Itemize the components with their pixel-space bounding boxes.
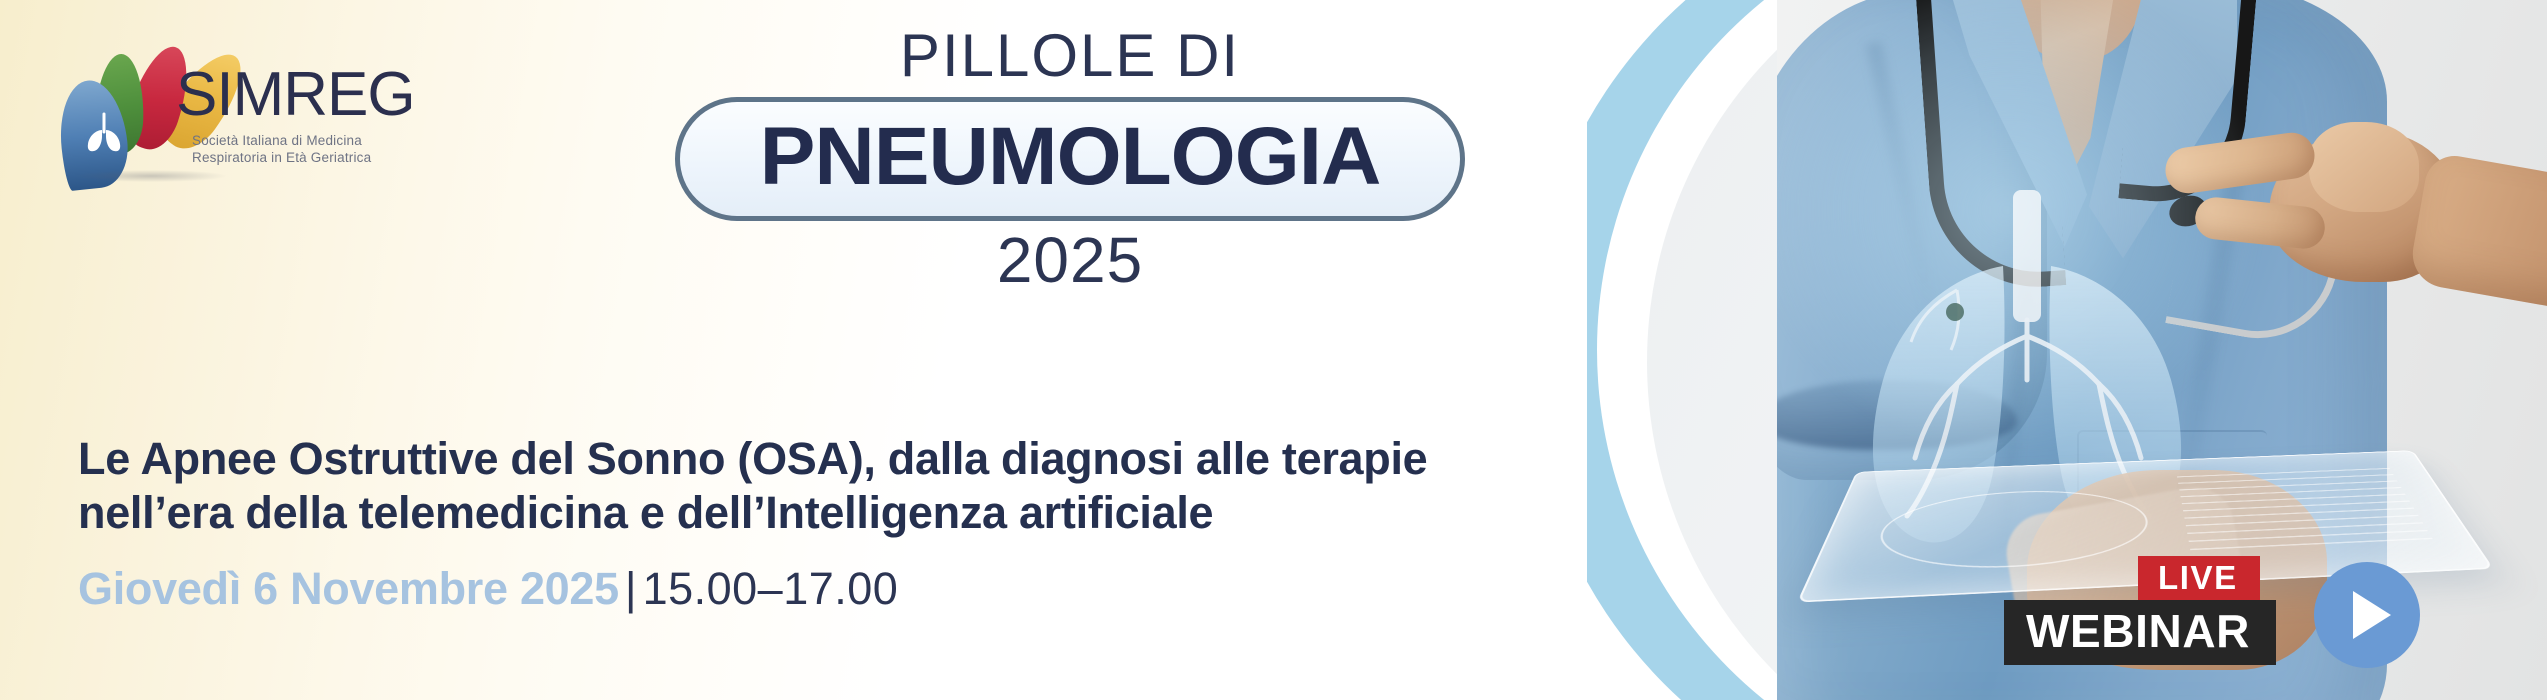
- session-subject-line2: nell’era della telemedicina e dell’Intel…: [78, 486, 1578, 540]
- session-details: Le Apnee Ostruttive del Sonno (OSA), dal…: [78, 432, 1578, 614]
- session-subject: Le Apnee Ostruttive del Sonno (OSA), dal…: [78, 432, 1578, 540]
- session-datetime: Giovedì 6 Novembre 2025|15.00–17.00: [78, 564, 1578, 614]
- lungs-icon: [84, 110, 124, 154]
- session-subject-line1: Le Apnee Ostruttive del Sonno (OSA), dal…: [78, 433, 1427, 484]
- hand-knuckles: [2309, 122, 2419, 212]
- datetime-separator: |: [619, 563, 643, 614]
- logo-drop-shadow: [76, 170, 226, 182]
- live-webinar-badge[interactable]: LIVE WEBINAR: [2004, 556, 2464, 672]
- live-label: LIVE: [2138, 556, 2260, 602]
- simreg-tagline-line1: Società Italiana di Medicina: [192, 133, 362, 148]
- session-date: Giovedì 6 Novembre 2025: [78, 563, 619, 614]
- title-highlight-text: PNEUMOLOGIA: [672, 116, 1468, 198]
- title-highlight-pill: PNEUMOLOGIA: [675, 97, 1465, 221]
- session-time: 15.00–17.00: [643, 563, 899, 614]
- forearm: [2407, 151, 2547, 324]
- pointing-hand: [2159, 96, 2489, 346]
- title-year: 2025: [660, 227, 1480, 294]
- simreg-logo[interactable]: SIMREG Società Italiana di Medicina Resp…: [62, 28, 392, 188]
- simreg-wordmark: SIMREG: [176, 64, 415, 126]
- title-block: PILLOLE DI PNEUMOLOGIA 2025: [660, 24, 1480, 294]
- title-kicker: PILLOLE DI: [660, 24, 1480, 87]
- tablet-data-readout: [2177, 468, 2433, 550]
- webinar-label: WEBINAR: [2004, 600, 2276, 665]
- play-button-icon[interactable]: [2314, 562, 2420, 668]
- simreg-tagline: Società Italiana di Medicina Respiratori…: [192, 132, 371, 166]
- simreg-tagline-line2: Respiratoria in Età Geriatrica: [192, 150, 371, 165]
- event-banner: SIMREG Società Italiana di Medicina Resp…: [0, 0, 2547, 700]
